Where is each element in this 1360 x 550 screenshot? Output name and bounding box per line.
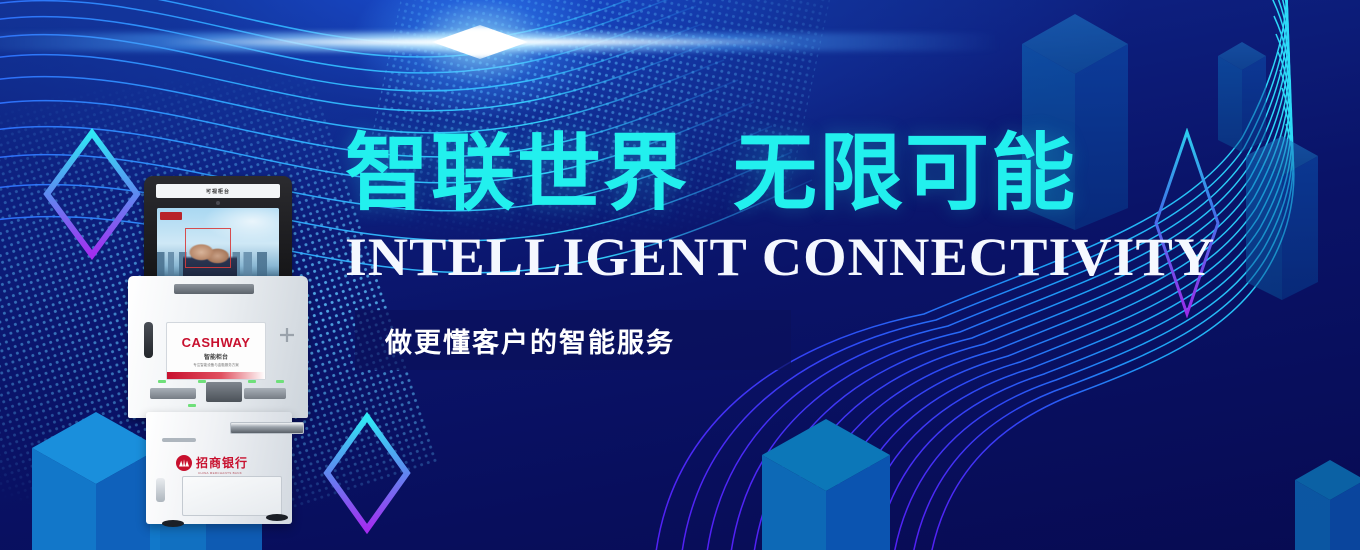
cashway-brand-plate: CASHWAY 智能柜台 专注智能设备与金融服务方案	[166, 322, 266, 380]
bank-logo-mark-icon	[176, 455, 192, 471]
headline-chinese: 智联世界无限可能	[345, 125, 1225, 221]
kiosk-upper-body: CASHWAY 智能柜台 专注智能设备与金融服务方案	[128, 276, 308, 418]
bank-name-en: CHINA MERCHANTS BANK	[198, 471, 242, 475]
subtitle-text: 做更懂客户的智能服务	[385, 321, 675, 360]
screen-corner-tag	[160, 212, 182, 220]
kiosk-foot-left	[162, 520, 184, 527]
cabinet-handle	[156, 478, 165, 502]
bank-logo: 招商银行 CHINA MERCHANTS BANK	[176, 454, 248, 471]
stylus-pen	[144, 322, 153, 358]
cash-hopper	[206, 382, 242, 402]
status-led-icon-1	[158, 380, 166, 383]
headline-english: INTELLIGENT CONNECTIVITY	[345, 227, 1256, 287]
card-reader-slot	[162, 438, 196, 442]
gradient-diamond-icon-2	[322, 412, 412, 534]
cashway-tagline: 专注智能设备与金融服务方案	[193, 363, 239, 368]
cashway-wordmark: CASHWAY	[182, 335, 251, 350]
subtitle-box: 做更懂客户的智能服务	[355, 310, 791, 370]
bank-name-cn: 招商银行	[196, 454, 248, 471]
headline-block: 智联世界无限可能 INTELLIGENT CONNECTIVITY	[345, 125, 1225, 287]
camera-icon	[216, 201, 220, 205]
cashway-wordmark-cn: 智能柜台	[204, 352, 228, 361]
receipt-slot	[174, 284, 254, 294]
headline-chinese-part1: 智联世界	[345, 126, 689, 220]
kiosk-top-label-text: 可视柜台	[206, 188, 230, 195]
card-tray-right	[244, 388, 286, 399]
status-led-icon-2	[198, 380, 206, 383]
headline-chinese-part2: 无限可能	[733, 126, 1077, 220]
kiosk-top-label: 可视柜台	[156, 184, 280, 198]
brand-plate-accent-bar	[167, 372, 265, 379]
screen-highlight-box	[185, 228, 231, 268]
kiosk-lower-cabinet: 招商银行 CHINA MERCHANTS BANK	[146, 412, 292, 524]
cabinet-door	[182, 476, 282, 516]
document-scanner-slot	[230, 422, 304, 434]
status-led-icon-5	[188, 404, 196, 407]
status-led-icon-3	[248, 380, 256, 383]
card-tray-left	[150, 388, 196, 399]
self-service-banking-kiosk: 可视柜台 CASHWAY 智能柜台 专注智能设备与金融服务方案	[118, 176, 308, 538]
status-led-icon-4	[276, 380, 284, 383]
kiosk-foot-right	[266, 514, 288, 521]
kiosk-screen	[157, 208, 279, 282]
marketing-banner: 可视柜台 CASHWAY 智能柜台 专注智能设备与金融服务方案	[0, 0, 1360, 550]
cross-marker-icon	[280, 328, 294, 342]
